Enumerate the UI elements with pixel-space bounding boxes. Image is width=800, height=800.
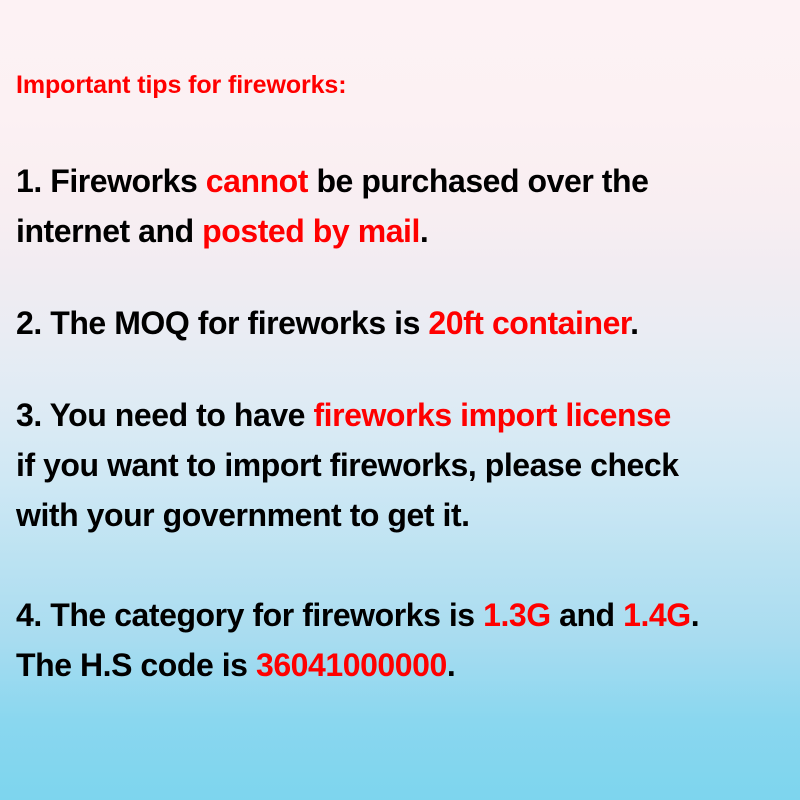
body-text: . [691, 597, 699, 633]
body-text: internet and [16, 213, 202, 249]
body-text: be purchased over the [308, 163, 648, 199]
tip-1-line-2: internet and posted by mail. [16, 206, 790, 256]
tip-item-2: 2. The MOQ for fireworks is 20ft contain… [16, 298, 790, 348]
tip-item-1: 1. Fireworks cannot be purchased over th… [16, 156, 790, 256]
body-text: . [630, 305, 638, 341]
tip-4-line-1: 4. The category for fireworks is 1.3G an… [16, 590, 790, 640]
body-text: The H.S code is [16, 647, 256, 683]
highlight-text: 1.4G [623, 597, 691, 633]
highlight-text: fireworks import license [313, 397, 670, 433]
body-text: 2. The MOQ for fireworks is [16, 305, 428, 341]
body-text: and [551, 597, 623, 633]
highlight-text: cannot [206, 163, 308, 199]
tip-3-line-2: if you want to import fireworks, please … [16, 440, 790, 490]
page-title: Important tips for fireworks: [16, 72, 346, 100]
body-text: 1. Fireworks [16, 163, 206, 199]
tip-item-3: 3. You need to have fireworks import lic… [16, 390, 790, 540]
body-text: with your government to get it. [16, 497, 470, 533]
body-text: if you want to import fireworks, please … [16, 447, 679, 483]
body-text: 3. You need to have [16, 397, 313, 433]
tip-item-4: 4. The category for fireworks is 1.3G an… [16, 590, 790, 690]
tip-1-line-1: 1. Fireworks cannot be purchased over th… [16, 156, 790, 206]
highlight-text: 20ft container [428, 305, 630, 341]
tip-3-line-1: 3. You need to have fireworks import lic… [16, 390, 790, 440]
body-text: . [420, 213, 428, 249]
highlight-text: 1.3G [483, 597, 551, 633]
highlight-text: posted by mail [202, 213, 420, 249]
tip-4-line-2: The H.S code is 36041000000. [16, 640, 790, 690]
body-text: . [447, 647, 455, 683]
body-text: 4. The category for fireworks is [16, 597, 483, 633]
tip-3-line-3: with your government to get it. [16, 490, 790, 540]
tip-2-line-1: 2. The MOQ for fireworks is 20ft contain… [16, 298, 790, 348]
highlight-text: 36041000000 [256, 647, 447, 683]
fireworks-tips-panel: Important tips for fireworks: 1. Firewor… [0, 0, 800, 800]
